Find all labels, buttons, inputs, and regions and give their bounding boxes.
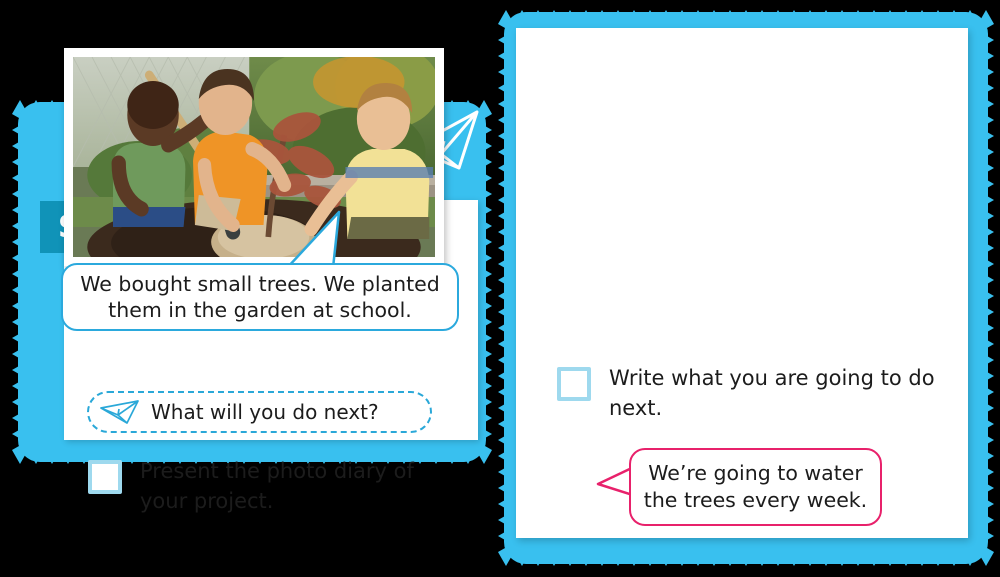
checklist-item[interactable]: Present the photo diary of your project. <box>88 456 458 516</box>
student-answer-bubble: We’re going to water the trees every wee… <box>629 448 882 526</box>
photo-caption-bubble: We bought small trees. We planted them i… <box>61 263 459 331</box>
checkbox[interactable] <box>557 367 591 401</box>
caption-line: We bought small trees. We planted <box>80 271 440 297</box>
checklist-label: Present the photo diary of your project. <box>140 456 458 516</box>
checkbox[interactable] <box>88 460 122 494</box>
checklist-label: Write what you are going to do next. <box>609 363 947 423</box>
caption-line: them in the garden at school. <box>108 297 412 323</box>
prompt-pill: What will you do next? <box>87 391 432 433</box>
speech-bubble-tail-blue <box>285 210 355 270</box>
answer-line: the trees every week. <box>644 487 867 514</box>
garden-photo <box>73 57 435 257</box>
prompt-text: What will you do next? <box>151 400 379 424</box>
paper-plane-icon <box>89 399 151 425</box>
photo-frame <box>64 48 444 266</box>
checklist-item[interactable]: Write what you are going to do next. <box>557 363 947 423</box>
worksheet-page: Show and tell What will you do next? Pre… <box>0 0 1000 577</box>
answer-line: We’re going to water <box>648 460 863 487</box>
photo-illustration <box>73 57 435 257</box>
